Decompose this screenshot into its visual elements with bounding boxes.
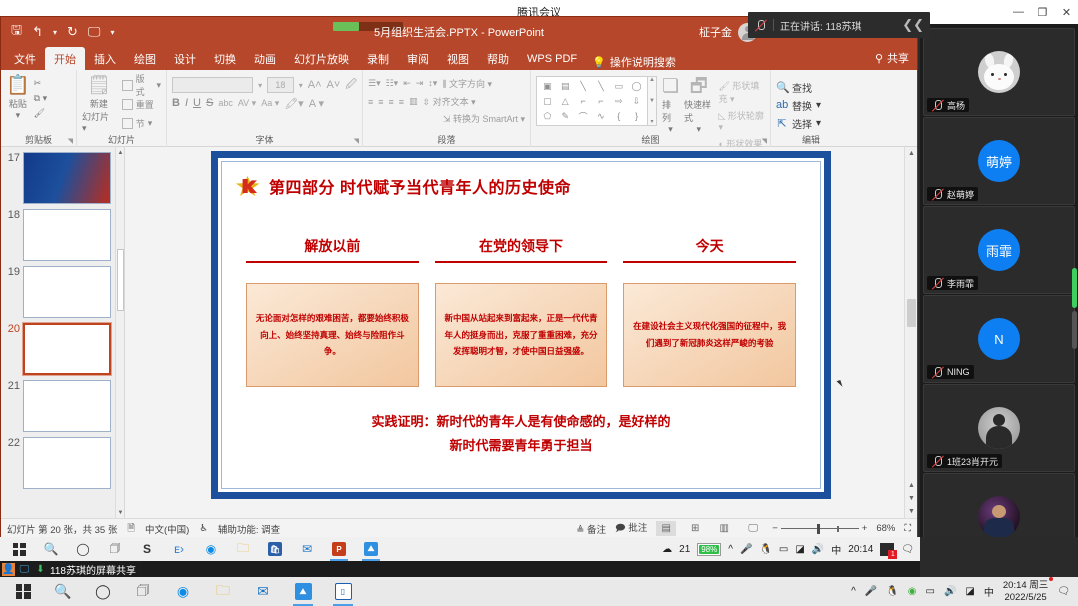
search-icon[interactable]: 🔍	[46, 577, 80, 606]
rail-bottom-filler	[920, 537, 1078, 577]
slide-scrollbar[interactable]: ▲ ▲ ▼ ▼	[904, 147, 917, 518]
slide-columns: 解放以前 无论面对怎样的艰难困苦，都要始终积极向上、始终坚持真理、始终与险阻作斗…	[246, 236, 796, 387]
drawing-dialog-launcher[interactable]: ◥	[762, 137, 767, 145]
column-heading: 解放以前	[246, 236, 419, 261]
pentagon-icon: ⬠	[539, 109, 556, 123]
new-slide-button[interactable]: 🗒 新建 幻灯片 ▾	[82, 75, 116, 134]
clock[interactable]: 20:14	[848, 544, 873, 555]
zoom-slider[interactable]: − +	[772, 523, 867, 534]
weather-icon[interactable]: ☁	[662, 544, 672, 555]
search-icon: 🔍	[776, 81, 788, 94]
mic-off-icon	[754, 19, 767, 32]
edge-icon[interactable]: ◉	[166, 577, 200, 606]
font-name-input[interactable]	[172, 77, 253, 93]
clock[interactable]: 20:14 周三 2022/5/25	[1003, 580, 1048, 604]
replace-label: 替换	[792, 98, 812, 113]
quick-styles-icon: 🗗	[690, 76, 708, 98]
thumbnail-number: 21	[3, 380, 23, 392]
thumbnail-item-19[interactable]: 19	[1, 261, 124, 318]
column-underline	[623, 261, 796, 263]
thumbnail-number: 17	[3, 152, 23, 164]
slide-title: 第四部分 时代赋予当代青年人的历史使命	[269, 174, 571, 198]
connector2-icon: ⌐	[593, 94, 610, 108]
ime-icon[interactable]: 中	[984, 584, 994, 599]
tab-insert[interactable]: 插入	[85, 47, 125, 70]
rounded-rect-icon: ▢	[539, 94, 556, 108]
layout-button[interactable]: 版式▾	[122, 77, 161, 93]
inner-taskbar[interactable]: 🔍 ◯ 🗇 S ᴇ› ◉ 🗀 🛍 ✉ P ⛰ ☁ 21 98% ^ 🎤 🐧 ▭ …	[0, 537, 920, 561]
slide-sorter-icon[interactable]: ⊞	[685, 521, 705, 536]
notes-button[interactable]: ≜ 备注	[576, 522, 606, 536]
increase-indent-icon[interactable]: ⇥	[416, 78, 424, 89]
reset-button[interactable]: 重置	[122, 96, 161, 112]
avatar: 萌婷	[978, 140, 1020, 182]
font-name-dropdown-icon[interactable]: ▾	[258, 81, 262, 90]
language-label[interactable]: 中文(中国)	[145, 522, 189, 536]
task-view-icon[interactable]: 🗇	[100, 537, 130, 561]
status-bar-right: ≜ 备注 🗩 批注 ▤ ⊞ ▥ 🖵 − + 68% ⛶	[576, 520, 911, 537]
minimize-icon[interactable]: —	[1013, 6, 1024, 18]
rail-scrollbar[interactable]	[1072, 268, 1077, 354]
qq-icon[interactable]: 🐧	[886, 586, 898, 597]
slide-column-3: 今天 在建设社会主义现代化强国的征程中，我们遇到了新冠肺炎这样严峻的考验	[623, 236, 796, 387]
file-explorer-icon[interactable]: 🗀	[206, 577, 240, 606]
tab-record[interactable]: 录制	[358, 47, 398, 70]
group-label-clipboard: 剪贴板	[1, 133, 76, 146]
thumbnail-preview[interactable]	[23, 152, 111, 204]
user-name: 柾子金	[699, 24, 732, 40]
volume-icon[interactable]: 🔊	[812, 544, 824, 555]
fit-to-window-icon[interactable]: ⛶	[904, 523, 911, 534]
clock-time: 20:14 周三	[1003, 580, 1048, 592]
cortana-icon[interactable]: ◯	[86, 577, 120, 606]
participant-tile[interactable]: 1班23肖开元	[923, 384, 1075, 472]
slide-column-1: 解放以前 无论面对怎样的艰难困苦，都要始终积极向上、始终坚持真理、始终与险阻作斗…	[246, 236, 419, 387]
group-label-font: 字体	[167, 133, 362, 146]
column-body: 新中国从站起来到富起来，正是一代代青年人的挺身而出，克服了重重困难，充分发挥聪明…	[444, 310, 599, 360]
new-slide-icon: 🗒	[87, 75, 111, 97]
paste-label: 粘贴	[9, 97, 27, 110]
font-dialog-launcher[interactable]: ◥	[354, 137, 359, 145]
collapse-arrows-icon[interactable]: ❮❮	[902, 17, 924, 33]
slide-title-row: 第四部分 时代赋予当代青年人的历史使命	[236, 174, 571, 198]
arc-icon: ⌒	[575, 109, 592, 123]
ribbon-group-font: ▾ 18 ▾ A˄ A˅ 🖉 B I U S abc AV ▾ Aa ▾ 🖍▾	[167, 70, 363, 147]
section-button[interactable]: 节▾	[122, 115, 161, 131]
cut-icon[interactable]: ✂	[34, 78, 47, 89]
thumbnail-item-20[interactable]: 20	[1, 318, 124, 375]
cortana-icon[interactable]: ◯	[68, 537, 98, 561]
scroll-up-icon[interactable]: ▲	[905, 147, 918, 160]
mail-icon[interactable]: ✉	[246, 577, 280, 606]
replace-button[interactable]: ab替换▾	[776, 96, 846, 114]
zoom-out-icon[interactable]: −	[772, 523, 778, 534]
slide-stage: 第四部分 时代赋予当代青年人的历史使命 解放以前 无论面对怎样的艰难困苦，都要始…	[125, 147, 917, 518]
show-hidden-icons[interactable]: ^	[851, 586, 856, 597]
rectangle-shape-icon: ▭	[610, 79, 627, 93]
notification-dot	[1049, 577, 1053, 581]
tab-home[interactable]: 开始	[45, 47, 85, 70]
participant-name: 李雨霏	[947, 277, 974, 290]
ime-icon[interactable]: 中	[831, 542, 841, 557]
convert-smartart-button[interactable]: ⇲ 转换为 SmartArt ▾	[368, 108, 525, 125]
layout-icon	[122, 80, 133, 91]
shape-fill-button[interactable]: 🖌 形状填充 ▾	[718, 79, 765, 105]
browser-icon[interactable]: ᴇ›	[164, 537, 194, 561]
weather-temp: 21	[679, 544, 690, 555]
app-blue-icon[interactable]: ▯	[326, 577, 360, 606]
right-brace-icon: }	[628, 109, 645, 123]
tell-me-search[interactable]: 💡 操作说明搜索	[586, 54, 676, 70]
next-slide-icon[interactable]: ▼	[905, 492, 918, 505]
thumbnail-number: 22	[3, 437, 23, 449]
slide-count-label: 幻灯片 第 20 张，共 35 张	[7, 522, 117, 536]
shadow-button[interactable]: S	[206, 97, 213, 109]
participant-rail[interactable]: 高杨 萌婷 赵萌婷 雨霏 李雨霏 N NING	[920, 24, 1078, 561]
increase-font-size-icon[interactable]: A˄	[308, 79, 322, 91]
format-painter-icon[interactable]: 🖌	[34, 108, 47, 119]
font-size-dropdown-icon[interactable]: ▾	[299, 81, 303, 90]
zoom-midpoint	[837, 526, 839, 532]
column-textbox[interactable]: 在建设社会主义现代化强国的征程中，我们遇到了新冠肺炎这样严峻的考验	[623, 283, 796, 387]
battery-icon[interactable]: ▭	[926, 586, 935, 597]
mic-off-icon	[931, 277, 944, 290]
powerpoint-icon[interactable]: P	[324, 537, 354, 561]
inner-system-tray[interactable]: ☁ 21 98% ^ 🎤 🐧 ▭ ◪ 🔊 中 20:14 🗨	[662, 542, 920, 557]
right-arrow-icon: ⇨	[610, 94, 627, 108]
align-left-icon[interactable]: ≡	[368, 97, 373, 107]
battery-icon[interactable]: ▭	[779, 544, 788, 555]
participant-name: 高杨	[947, 99, 965, 112]
store-icon[interactable]: 🛍	[260, 537, 290, 561]
scroll-down-icon[interactable]: ▼	[905, 505, 918, 518]
host-system-tray[interactable]: ^ 🎤 🐧 ◉ ▭ 🔊 ◪ 中 20:14 周三 2022/5/25 🗨	[851, 580, 1078, 604]
paste-dropdown-icon[interactable]: ▾	[16, 110, 21, 121]
column-textbox[interactable]: 无论面对怎样的艰难困苦，都要始终积极向上、始终坚持真理、始终与险阻作斗争。	[246, 283, 419, 387]
clear-formatting-icon[interactable]: 🖉	[345, 76, 357, 95]
mic-off-icon	[931, 188, 944, 201]
action-center-icon[interactable]: 🗨	[1057, 586, 1070, 597]
ppt-main-area: 17 18 19 20 21	[1, 147, 917, 518]
copy-icon[interactable]: ⧉ ▾	[34, 93, 47, 104]
participant-tile[interactable]: N NING	[923, 295, 1075, 383]
participant-tile[interactable]: 萌婷 赵萌婷	[923, 117, 1075, 205]
tab-help[interactable]: 帮助	[478, 47, 518, 70]
scroll-down-icon[interactable]: ▼	[116, 507, 125, 518]
italic-button[interactable]: I	[185, 97, 188, 109]
align-center-icon[interactable]: ≡	[378, 97, 383, 107]
comments-button[interactable]: 🗩 批注	[615, 520, 647, 537]
conclusion-line-2: 新时代需要青年勇于担当	[258, 434, 784, 458]
group-label-paragraph: 段落	[363, 133, 530, 146]
arrange-label: 排列	[662, 98, 679, 124]
arrange-icon: ❏	[662, 76, 679, 98]
replace-icon: ab	[776, 99, 788, 111]
slide-conclusion[interactable]: 实践证明：新时代的青年人是有使命感的，是好样的 新时代需要青年勇于担当	[258, 410, 784, 458]
start-icon[interactable]	[6, 577, 40, 606]
thumbnail-preview[interactable]	[23, 209, 111, 261]
thumbnail-item-22[interactable]: 22	[1, 432, 124, 489]
find-label: 查找	[792, 80, 812, 95]
textbox2-shape-icon: ▤	[557, 79, 574, 93]
elbow-connector-icon: ⌐	[575, 94, 592, 108]
freeform-icon: ✎	[557, 109, 574, 123]
arrange-button[interactable]: ❏ 排列 ▾	[662, 76, 679, 135]
party-emblem-icon	[236, 174, 262, 198]
current-slide[interactable]: 第四部分 时代赋予当代青年人的历史使命 解放以前 无论面对怎样的艰难困苦，都要始…	[211, 151, 831, 499]
screen-icon[interactable]: 🖵	[18, 563, 31, 576]
mic-off-icon	[931, 366, 944, 379]
speaking-indicator: 正在讲话: 118苏琪 ❮❮	[748, 12, 930, 38]
download-icon[interactable]: ⬇	[34, 563, 47, 576]
meeting-window-controls[interactable]: — ❐ ✕	[1013, 0, 1072, 24]
down-arrow-icon: ⇩	[628, 94, 645, 108]
decrease-font-size-icon[interactable]: A˅	[327, 79, 341, 91]
strikethrough-button[interactable]: abc	[218, 98, 233, 108]
notification-icon[interactable]	[880, 543, 894, 556]
tell-me-label: 操作说明搜索	[610, 54, 676, 70]
column-heading: 在党的领导下	[435, 236, 608, 261]
qq-icon[interactable]: 🐧	[759, 544, 771, 555]
zoom-in-icon[interactable]: +	[862, 523, 868, 534]
previous-slide-icon[interactable]: ▲	[905, 479, 918, 492]
column-body: 无论面对怎样的艰难困苦，都要始终积极向上、始终坚持真理、始终与险阻作斗争。	[255, 310, 410, 360]
tab-draw[interactable]: 绘图	[125, 47, 165, 70]
new-slide-label2: 幻灯片 ▾	[82, 110, 116, 134]
speaking-label: 正在讲话: 118苏琪	[780, 18, 862, 33]
align-right-icon[interactable]: ≡	[389, 97, 394, 107]
mic-icon[interactable]: 🎤	[740, 544, 752, 555]
slide-column-2: 在党的领导下 新中国从站起来到富起来，正是一代代青年人的挺身而出，克服了重重困难…	[435, 236, 608, 387]
wifi-icon[interactable]: ◪	[965, 586, 974, 597]
select-button[interactable]: ⇱选择▾	[776, 114, 846, 132]
group-label-editing: 编辑	[771, 133, 851, 146]
thumbnail-number: 20	[3, 323, 23, 335]
thumbnail-preview[interactable]	[23, 437, 111, 489]
accessibility-checker-icon[interactable]: 🗎	[127, 521, 135, 537]
left-brace-icon: {	[610, 109, 627, 123]
section-label: 节	[136, 117, 145, 130]
column-body: 在建设社会主义现代化强国的征程中，我们遇到了新冠肺炎这样严峻的考验	[632, 318, 787, 351]
zoom-knob[interactable]	[817, 524, 820, 534]
file-explorer-icon[interactable]: 🗀	[228, 537, 258, 561]
ribbon-tabs[interactable]: 文件 开始 插入 绘图 设计 切换 动画 幻灯片放映 录制 审阅 视图 帮助 W…	[1, 47, 917, 70]
clock-date: 2022/5/25	[1003, 592, 1048, 604]
lightbulb-icon: 💡	[592, 56, 606, 69]
volume-icon[interactable]: 🔊	[944, 586, 956, 597]
tab-view[interactable]: 视图	[438, 47, 478, 70]
mic-icon[interactable]: 🎤	[865, 586, 877, 597]
tab-slideshow[interactable]: 幻灯片放映	[285, 47, 358, 70]
shapes-gallery-scrollbar[interactable]: ▲▼▾	[648, 76, 657, 126]
task-view-icon[interactable]: 🗇	[126, 577, 160, 606]
avatar: 雨霏	[978, 229, 1020, 271]
paste-button[interactable]: 📋 粘贴 ▾	[6, 75, 30, 121]
person-share-icon: ⚲	[875, 52, 883, 65]
numbering-icon[interactable]: ☷▾	[386, 78, 399, 89]
ribbon: 📋 粘贴 ▾ ✂ ⧉ ▾ 🖌 剪贴板 ◥ 🗒	[1, 70, 917, 147]
line-shape-icon: ╲	[575, 79, 592, 93]
wechat-icon[interactable]: ◉	[908, 586, 917, 597]
screen-root: 腾讯会议 — ❐ ✕ 正在讲话: 118苏琪 ❮❮ 🖫 ↰ ▾ ↻ 🖵 ▾ 5月…	[0, 0, 1078, 606]
select-label: 选择	[792, 116, 812, 131]
close-icon[interactable]: ✕	[1061, 6, 1072, 19]
normal-view-icon[interactable]: ▤	[656, 521, 676, 536]
avatar	[978, 496, 1020, 538]
justify-icon[interactable]: ≡	[399, 97, 404, 107]
mail-icon[interactable]: ✉	[292, 537, 322, 561]
accessibility-icon: ♿	[199, 523, 208, 534]
participant-name-badge: 高杨	[927, 98, 969, 112]
share-notice-label: 118苏琪的屏幕共享	[50, 562, 136, 577]
new-slide-label: 新建	[90, 97, 108, 110]
scroll-up-icon[interactable]: ▲	[116, 147, 125, 158]
thumbnail-number: 19	[3, 266, 23, 278]
column-textbox[interactable]: 新中国从站起来到富起来，正是一代代青年人的挺身而出，克服了重重困难，充分发挥聪明…	[435, 283, 608, 387]
tab-design[interactable]: 设计	[165, 47, 205, 70]
host-taskbar[interactable]: 🔍 ◯ 🗇 ◉ 🗀 ✉ ⛰ ▯ ^ 🎤 🐧 ◉ ▭ 🔊 ◪ 中 20:14 周三…	[0, 577, 1078, 606]
quick-styles-label: 快速样式	[684, 98, 713, 124]
slide-thumbnail-panel[interactable]: 17 18 19 20 21	[1, 147, 125, 518]
font-color-icon[interactable]: A ▾	[309, 97, 324, 110]
character-spacing-icon[interactable]: AV ▾	[238, 98, 256, 109]
shape-outline-button[interactable]: ◺ 形状轮廓 ▾	[718, 109, 765, 133]
decrease-indent-icon[interactable]: ⇤	[403, 78, 411, 89]
clipboard-dialog-launcher[interactable]: ◥	[68, 137, 73, 145]
section-icon	[122, 118, 133, 129]
find-button[interactable]: 🔍查找	[776, 78, 846, 96]
tab-review[interactable]: 审阅	[398, 47, 438, 70]
maximize-icon[interactable]: ❐	[1037, 6, 1048, 19]
wifi-icon[interactable]: ◪	[795, 544, 804, 555]
group-label-slides: 幻灯片	[77, 133, 166, 146]
thumbnail-item-17[interactable]: 17	[1, 147, 124, 204]
select-icon: ⇱	[776, 117, 788, 130]
thumbnail-preview[interactable]	[23, 266, 111, 318]
text-highlight-icon[interactable]: 🖍▾	[284, 97, 304, 110]
share-button[interactable]: ⚲ 共享	[875, 50, 909, 66]
screen-share-notice: 👤 🖵 ⬇ 118苏琪的屏幕共享	[0, 561, 142, 577]
tab-file[interactable]: 文件	[5, 47, 45, 70]
ribbon-group-drawing: ▣▤ ╲╲ ▭◯ ▢△ ⌐⌐ ⇨⇩ ⬠✎ ⌒∿ {} ▲▼▾	[531, 70, 771, 147]
font-size-input[interactable]: 18	[267, 77, 294, 93]
zoom-track[interactable]	[781, 528, 859, 530]
align-text-button[interactable]: ⇳ 对齐文本 ▾	[423, 95, 476, 108]
group-label-drawing: 绘图	[531, 133, 770, 146]
ribbon-group-clipboard: 📋 粘贴 ▾ ✂ ⧉ ▾ 🖌 剪贴板 ◥	[1, 70, 77, 147]
reset-label: 重置	[136, 98, 154, 111]
meeting-icon[interactable]: ⛰	[356, 537, 386, 561]
participant-name: NING	[947, 367, 970, 377]
underline-button[interactable]: U	[193, 97, 201, 109]
text-direction-button[interactable]: ⫼ 文字方向 ▾	[442, 77, 492, 90]
participant-tile[interactable]: 高杨	[923, 28, 1075, 116]
scroll-thumb[interactable]	[907, 299, 916, 327]
arrow-shape-icon: ╲	[593, 79, 610, 93]
change-case-icon[interactable]: Aa ▾	[261, 98, 279, 109]
bold-button[interactable]: B	[172, 97, 180, 109]
participant-name-badge: 李雨霏	[927, 276, 978, 290]
meeting-icon[interactable]: ⛰	[286, 577, 320, 606]
mic-off-icon	[931, 99, 944, 112]
thumbnail-item-18[interactable]: 18	[1, 204, 124, 261]
column-underline	[435, 261, 608, 263]
thumbnail-preview[interactable]	[23, 380, 111, 432]
app-s-icon[interactable]: S	[132, 537, 162, 561]
scroll-thumb[interactable]	[117, 249, 124, 311]
oval-shape-icon: ◯	[628, 79, 645, 93]
ribbon-group-paragraph: ☰▾ ☷▾ ⇤ ⇥ ↕▾ ⫼ 文字方向 ▾ ≡ ≡ ≡ ≡ ▥ ⇳ 对齐文本 ▾…	[363, 70, 531, 147]
thumbnail-preview-selected[interactable]	[23, 323, 111, 375]
triangle-icon: △	[557, 94, 574, 108]
avatar	[978, 51, 1020, 93]
curve-icon: ∿	[593, 109, 610, 123]
search-icon[interactable]: 🔍	[36, 537, 66, 561]
avatar: N	[978, 318, 1020, 360]
tab-transitions[interactable]: 切换	[205, 47, 245, 70]
start-icon[interactable]	[4, 537, 34, 561]
bullets-icon[interactable]: ☰▾	[368, 78, 381, 89]
accessibility-label[interactable]: 辅助功能: 调查	[218, 522, 280, 536]
ppt-status-bar: 幻灯片 第 20 张，共 35 张 🗎 中文(中国) ♿ 辅助功能: 调查 ≜ …	[1, 518, 917, 538]
participant-name-badge: 赵萌婷	[927, 187, 978, 201]
action-center-icon[interactable]: 🗨	[901, 544, 914, 555]
clipboard-icon: 📋	[6, 75, 30, 97]
avatar	[978, 407, 1020, 449]
layout-label: 版式	[136, 72, 154, 98]
ribbon-group-editing: 🔍查找 ab替换▾ ⇱选择▾ 编辑	[771, 70, 851, 147]
reset-icon	[122, 99, 133, 110]
tab-wps-pdf[interactable]: WPS PDF	[518, 47, 586, 70]
mic-off-icon	[931, 455, 944, 468]
slideshow-icon[interactable]: 🖵	[743, 521, 763, 536]
thumbnail-scrollbar[interactable]: ▲ ▼	[115, 147, 124, 518]
share-label: 共享	[887, 50, 909, 66]
conclusion-line-1: 实践证明：新时代的青年人是有使命感的，是好样的	[258, 410, 784, 434]
ribbon-group-slides: 🗒 新建 幻灯片 ▾ 版式▾ 重置 节▾ 幻灯片	[77, 70, 167, 147]
textbox-shape-icon: ▣	[539, 79, 556, 93]
show-hidden-icons[interactable]: ^	[728, 544, 733, 555]
tab-animations[interactable]: 动画	[245, 47, 285, 70]
battery-indicator[interactable]: 98%	[697, 543, 721, 556]
participant-tile[interactable]: 雨霏 李雨霏	[923, 206, 1075, 294]
participant-name-badge: 1班23肖开元	[927, 454, 1002, 468]
zoom-level-label[interactable]: 68%	[876, 523, 895, 534]
quick-styles-button[interactable]: 🗗 快速样式 ▾	[684, 76, 713, 135]
thumbnail-item-21[interactable]: 21	[1, 375, 124, 432]
column-underline	[246, 261, 419, 263]
shapes-gallery[interactable]: ▣▤ ╲╲ ▭◯ ▢△ ⌐⌐ ⇨⇩ ⬠✎ ⌒∿ {}	[536, 76, 648, 126]
thumbnail-number: 18	[3, 209, 23, 221]
divider	[773, 19, 774, 31]
reading-view-icon[interactable]: ▥	[714, 521, 734, 536]
participant-name-badge: NING	[927, 365, 974, 379]
powerpoint-window: 🖫 ↰ ▾ ↻ 🖵 ▾ 5月组织生活会.PPTX - PowerPoint 柾子…	[0, 16, 918, 537]
column-heading: 今天	[623, 236, 796, 261]
participant-name: 赵萌婷	[947, 188, 974, 201]
participant-name: 1班23肖开元	[947, 455, 998, 468]
line-spacing-icon[interactable]: ↕▾	[428, 78, 437, 89]
person-icon: 👤	[2, 563, 15, 576]
columns-icon[interactable]: ▥	[409, 96, 418, 107]
edge-icon[interactable]: ◉	[196, 537, 226, 561]
